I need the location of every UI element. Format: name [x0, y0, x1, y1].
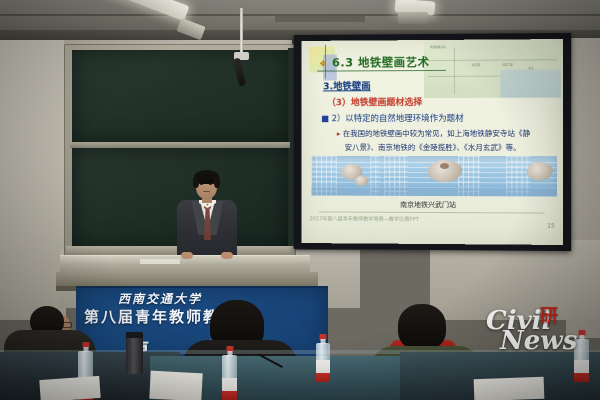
banner-university-name: 西南交通大学 [118, 290, 202, 307]
slide-bullet-marker: ■ [321, 114, 329, 124]
blackboard-upper-panel [72, 50, 288, 142]
slide-title: ❖ 6.3 地铁壁画艺术 [319, 54, 429, 71]
slide-subbullet-line-2: 安八景》、南京地铁的《金陵揽胜》、《水月玄武》等。 [345, 142, 521, 153]
watermark-logo: Civil News 研 [478, 302, 594, 358]
slide-heading: 3.地铁壁画 [323, 78, 371, 92]
paper-sheet [39, 376, 100, 400]
slide-subheading: （3）地铁壁画题材选择 [327, 95, 422, 108]
slide-page-number: 15 [547, 223, 555, 230]
slide-footer-rule [319, 211, 545, 213]
slide-heading-text: 3.地铁壁画 [323, 81, 371, 92]
slide-bullet-text: 2）以特定的自然地理环境作为题材 [332, 114, 464, 124]
slide-subbullet-line-1: ▸ 在我国的地铁壁画中较为常见，如上海地铁静安寺站《静 [337, 128, 530, 139]
slide-map-water [500, 69, 561, 97]
slide-title-text: 6.3 地铁壁画艺术 [332, 55, 429, 70]
thermos-cap [126, 332, 143, 338]
slide-subbullet-marker: ▸ [337, 129, 341, 138]
microphone-hanging-rod [240, 8, 243, 54]
slide-footer-text: 2017年第八届青年教师教学竞赛—教学比赛PPT [309, 215, 419, 223]
podium-panel-slot [140, 259, 180, 264]
slide-subheading-text: （3）地铁壁画题材选择 [327, 98, 422, 108]
watermark-word-bottom: News [500, 326, 577, 356]
slide-image-caption: 南京地铁兴武门站 [301, 199, 557, 210]
water-bottle [316, 334, 330, 382]
speaker-hair-side-right [214, 176, 220, 188]
slide-bullet: ■ 2）以特定的自然地理环境作为题材 [321, 112, 464, 124]
projection-screen: 地铁线路示意 玄武湖 兴武门站 站点 ❖ 6.3 地铁壁画艺术 3.地铁壁画 （… [301, 39, 563, 245]
thermos-flask [126, 336, 143, 374]
slide-subbullet-text-2: 安八景》、南京地铁的《金陵揽胜》、《水月玄武》等。 [345, 143, 521, 152]
ceiling-vent [275, 16, 365, 22]
water-bottle [222, 346, 237, 400]
watermark-chinese-mark: 研 [540, 302, 558, 328]
speaker-hand-right [221, 252, 233, 259]
slide-mural-image [311, 156, 557, 197]
slide-title-marker: ❖ [319, 60, 327, 70]
audience-right-head [398, 304, 446, 350]
fluorescent-tube-housing [398, 12, 428, 24]
speaker-hand-left [181, 252, 193, 259]
slide-subbullet-text-1: 在我国的地铁壁画中较为常见，如上海地铁静安寺站《静 [343, 129, 530, 138]
paper-sheet [149, 371, 202, 400]
banner-event-title: 第八届青年教师教 [84, 306, 220, 327]
lecture-hall-photo: 地铁线路示意 玄武湖 兴武门站 站点 ❖ 6.3 地铁壁画艺术 3.地铁壁画 （… [0, 0, 600, 400]
paper-sheet [474, 377, 545, 400]
speaker-hair-side-left [193, 176, 199, 188]
